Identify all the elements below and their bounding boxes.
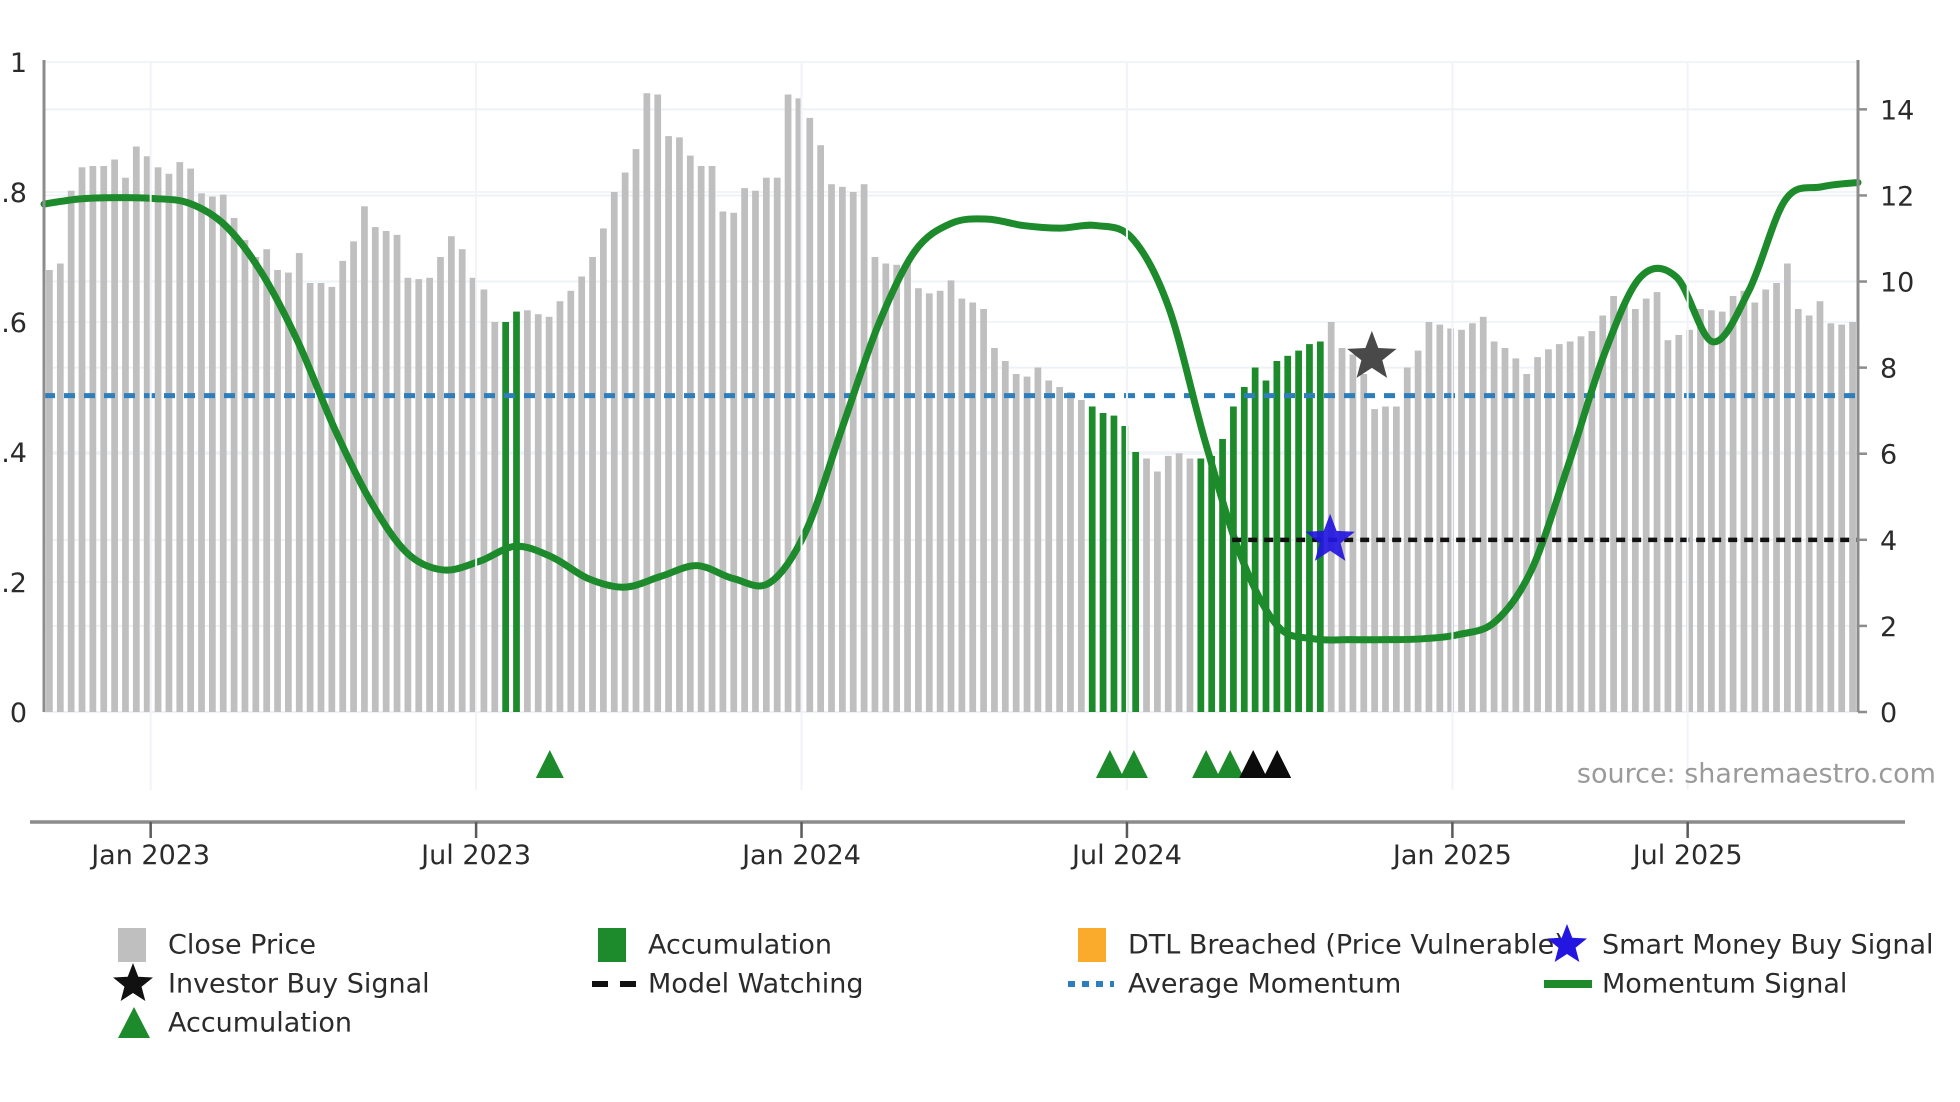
accumulation-bar: [513, 312, 520, 712]
close-price-bar: [405, 278, 412, 712]
close-price-bar: [68, 191, 75, 712]
legend-item-label: Momentum Signal: [1602, 969, 1847, 1000]
close-price-bar: [318, 283, 325, 712]
legend-item-label: Close Price: [168, 930, 316, 961]
accumulation-bar: [1100, 413, 1107, 712]
accumulation-bar: [1284, 356, 1291, 712]
close-price-bar: [1751, 303, 1758, 713]
left-axis-tick-label: 0.6: [0, 308, 27, 339]
close-price-bar: [600, 228, 607, 712]
x-axis-tick-label: Jul 2024: [1070, 840, 1182, 871]
close-price-bar: [220, 195, 227, 712]
close-price-bar: [1426, 322, 1433, 712]
close-price-bar: [741, 188, 748, 712]
source-attribution: source: sharemaestro.com: [1577, 759, 1936, 790]
x-axis-tick-label: Jan 2023: [89, 840, 210, 871]
close-price-bar: [491, 322, 498, 712]
right-axis-tick-label: 8: [1880, 354, 1897, 385]
close-price-bar: [730, 213, 737, 712]
close-price-bar: [1393, 407, 1400, 713]
close-price-bar: [839, 187, 846, 712]
close-price-bar: [1741, 291, 1748, 712]
accumulation-bar: [1208, 456, 1215, 712]
right-axis-tick-label: 0: [1880, 698, 1897, 729]
legend-item-label: Average Momentum: [1128, 969, 1401, 1000]
close-price-bar: [1035, 368, 1042, 713]
close-price-bar: [1154, 472, 1161, 713]
close-price-bar: [861, 184, 868, 712]
close-price-bar: [1806, 316, 1813, 713]
chart-figure: 00.20.40.60.81 02468101214 Jan 2023Jul 2…: [0, 0, 1960, 1102]
accumulation-bar: [1111, 416, 1118, 712]
close-price-bar: [817, 145, 824, 712]
legend-item-label: DTL Breached (Price Vulnerable): [1128, 930, 1565, 961]
close-price-bar: [1827, 323, 1834, 712]
close-price-bar: [687, 156, 694, 712]
close-price-bar: [448, 236, 455, 712]
close-price-bar: [1654, 292, 1661, 712]
close-price-bar: [1339, 348, 1346, 712]
accumulation-bar: [1306, 344, 1313, 712]
close-price-bar: [274, 270, 281, 712]
close-price-bar: [1817, 301, 1824, 712]
x-axis-tick-label: Jan 2024: [740, 840, 861, 871]
close-price-bar: [1143, 459, 1150, 713]
close-price-bar: [1697, 309, 1704, 712]
close-price-bar: [1849, 322, 1856, 712]
close-price-bar: [285, 273, 292, 712]
close-price-bar: [633, 149, 640, 712]
right-axis-tick-label: 12: [1880, 181, 1914, 212]
close-price-bar: [1382, 407, 1389, 713]
close-price-bar: [654, 95, 661, 713]
close-price-bar: [578, 277, 585, 713]
close-price-bar: [133, 147, 140, 713]
close-price-bar: [1556, 344, 1563, 712]
close-price-bar: [46, 270, 53, 712]
x-axis-tick-label: Jul 2023: [419, 840, 531, 871]
close-price-bar: [1610, 296, 1617, 712]
left-axis-tick-label: 0.4: [0, 438, 27, 469]
x-axis-tick-label: Jan 2025: [1391, 840, 1512, 871]
close-price-bar: [307, 283, 314, 712]
close-price-bar: [209, 197, 216, 712]
close-price-bar: [948, 280, 955, 712]
left-axis-tick-label: 0: [10, 698, 27, 729]
close-price-bar: [90, 166, 97, 712]
close-price-bar: [100, 166, 107, 712]
close-price-bar: [328, 287, 335, 712]
close-price-bar: [252, 257, 259, 712]
close-price-bar: [1578, 336, 1585, 712]
close-price-bar: [242, 240, 249, 712]
close-price-bar: [122, 178, 129, 712]
close-price-bar: [535, 314, 542, 712]
close-price-bar: [1773, 283, 1780, 712]
close-price-bar: [263, 249, 270, 712]
close-price-bar: [394, 235, 401, 712]
x-axis-tick-label: Jul 2025: [1631, 840, 1743, 871]
close-price-bar: [763, 178, 770, 712]
close-price-bar: [1165, 456, 1172, 712]
left-axis-tick-label: 0.2: [0, 568, 27, 599]
close-price-bar: [1795, 309, 1802, 712]
close-price-bar: [567, 291, 574, 712]
legend-item-label: Accumulation: [168, 1008, 352, 1039]
legend-swatch-icon: [118, 928, 146, 962]
close-price-bar: [1512, 358, 1519, 712]
legend-item-dtl-breached[interactable]: DTL Breached (Price Vulnerable): [1078, 928, 1565, 962]
close-price-bar: [926, 293, 933, 712]
close-price-bar: [155, 167, 162, 712]
close-price-bar: [698, 166, 705, 712]
close-price-bar: [557, 301, 564, 712]
close-price-bar: [785, 95, 792, 713]
legend-swatch-icon: [1078, 928, 1106, 962]
close-price-bar: [1523, 374, 1530, 712]
close-price-bar: [144, 156, 151, 712]
accumulation-bar: [1089, 407, 1096, 713]
close-price-bar: [1415, 351, 1422, 712]
momentum-chart: 00.20.40.60.81 02468101214 Jan 2023Jul 2…: [0, 0, 1960, 1102]
close-price-bar: [1838, 325, 1845, 712]
close-price-bar: [1762, 290, 1769, 713]
close-price-bar: [806, 118, 813, 712]
accumulation-bar: [502, 322, 509, 712]
close-price-bar: [904, 264, 911, 713]
legend-item-smart-money-buy-signal[interactable]: Smart Money Buy Signal: [1547, 924, 1933, 962]
close-price-bar: [958, 299, 965, 712]
legend-item-label: Smart Money Buy Signal: [1602, 930, 1934, 961]
close-price-bar: [1632, 309, 1639, 712]
close-price-bar: [296, 253, 303, 712]
close-price-bar: [176, 162, 183, 712]
close-price-bar: [1187, 459, 1194, 713]
close-price-bar: [79, 167, 86, 712]
close-price-bar: [1784, 264, 1791, 713]
close-price-bar: [1730, 296, 1737, 712]
accumulation-bar: [1230, 407, 1237, 713]
close-price-bar: [1436, 325, 1443, 712]
close-price-bar: [774, 178, 781, 712]
close-price-bar: [1176, 453, 1183, 712]
close-price-bar: [611, 192, 618, 712]
accumulation-bar: [1295, 351, 1302, 712]
close-price-bar: [372, 227, 379, 712]
close-price-bar: [937, 291, 944, 712]
close-price-bar: [1502, 348, 1509, 712]
accumulation-bar: [1132, 452, 1139, 712]
close-price-bar: [752, 191, 759, 712]
right-axis-tick-label: 14: [1880, 95, 1914, 126]
close-price-bar: [524, 310, 531, 712]
close-price-bar: [481, 290, 488, 713]
close-price-bar: [187, 169, 194, 712]
right-axis-tick-label: 2: [1880, 612, 1897, 643]
close-price-bar: [980, 309, 987, 712]
close-price-bar: [1719, 312, 1726, 712]
close-price-bar: [643, 93, 650, 712]
close-price-bar: [1360, 374, 1367, 712]
close-price-bar: [166, 174, 173, 712]
close-price-bar: [231, 218, 238, 712]
close-price-bar: [1045, 381, 1052, 713]
close-price-bar: [198, 193, 205, 712]
close-price-bar: [893, 265, 900, 712]
close-price-bar: [1458, 330, 1465, 712]
right-axis-tick-label: 6: [1880, 440, 1897, 471]
left-axis-tick-label: 0.8: [0, 178, 27, 209]
close-price-bar: [426, 278, 433, 712]
accumulation-bar: [1274, 361, 1281, 712]
close-price-bar: [1013, 374, 1020, 712]
close-price-bar: [459, 249, 466, 712]
close-price-bar: [969, 303, 976, 713]
close-price-bar: [1480, 317, 1487, 712]
close-price-bar: [546, 317, 553, 712]
legend-item-label: Model Watching: [648, 969, 863, 1000]
close-price-bar: [415, 279, 422, 712]
close-price-bar: [361, 206, 368, 712]
accumulation-bar: [1197, 459, 1204, 713]
legend-swatch-icon: [598, 928, 626, 962]
close-price-bar: [709, 166, 716, 712]
close-price-bar: [1708, 310, 1715, 712]
close-price-bar: [1621, 304, 1628, 712]
close-price-bar: [915, 288, 922, 712]
close-price-bar: [850, 192, 857, 712]
close-price-bar: [383, 231, 390, 712]
close-price-bar: [1002, 361, 1009, 712]
close-price-bar: [622, 173, 629, 713]
close-price-bar: [1024, 377, 1031, 712]
close-price-bar: [437, 257, 444, 712]
close-price-bar: [1643, 299, 1650, 712]
close-price-bar: [1675, 335, 1682, 712]
close-price-bar: [111, 160, 118, 713]
left-axis-tick-label: 1: [10, 48, 27, 79]
close-price-bar: [1067, 392, 1074, 712]
close-price-bar: [665, 136, 672, 712]
right-axis-tick-label: 10: [1880, 268, 1914, 299]
close-price-bar: [1056, 387, 1063, 712]
close-price-bar: [1371, 409, 1378, 712]
close-price-bar: [1078, 400, 1085, 712]
close-price-bar: [339, 261, 346, 712]
accumulation-bar: [1219, 439, 1226, 712]
close-price-bar: [991, 348, 998, 712]
legend-item-label: Investor Buy Signal: [168, 969, 430, 1000]
close-price-bar: [676, 137, 683, 712]
accumulation-bar: [1317, 342, 1324, 713]
close-price-bar: [1534, 357, 1541, 712]
right-axis-tick-label: 4: [1880, 526, 1897, 557]
close-price-bar: [589, 257, 596, 712]
close-price-bar: [1469, 323, 1476, 712]
close-price-bar: [57, 264, 64, 713]
legend-item-label: Accumulation: [648, 930, 832, 961]
accumulation-bar: [1263, 381, 1270, 713]
close-price-bar: [882, 264, 889, 713]
close-price-bar: [720, 212, 727, 713]
